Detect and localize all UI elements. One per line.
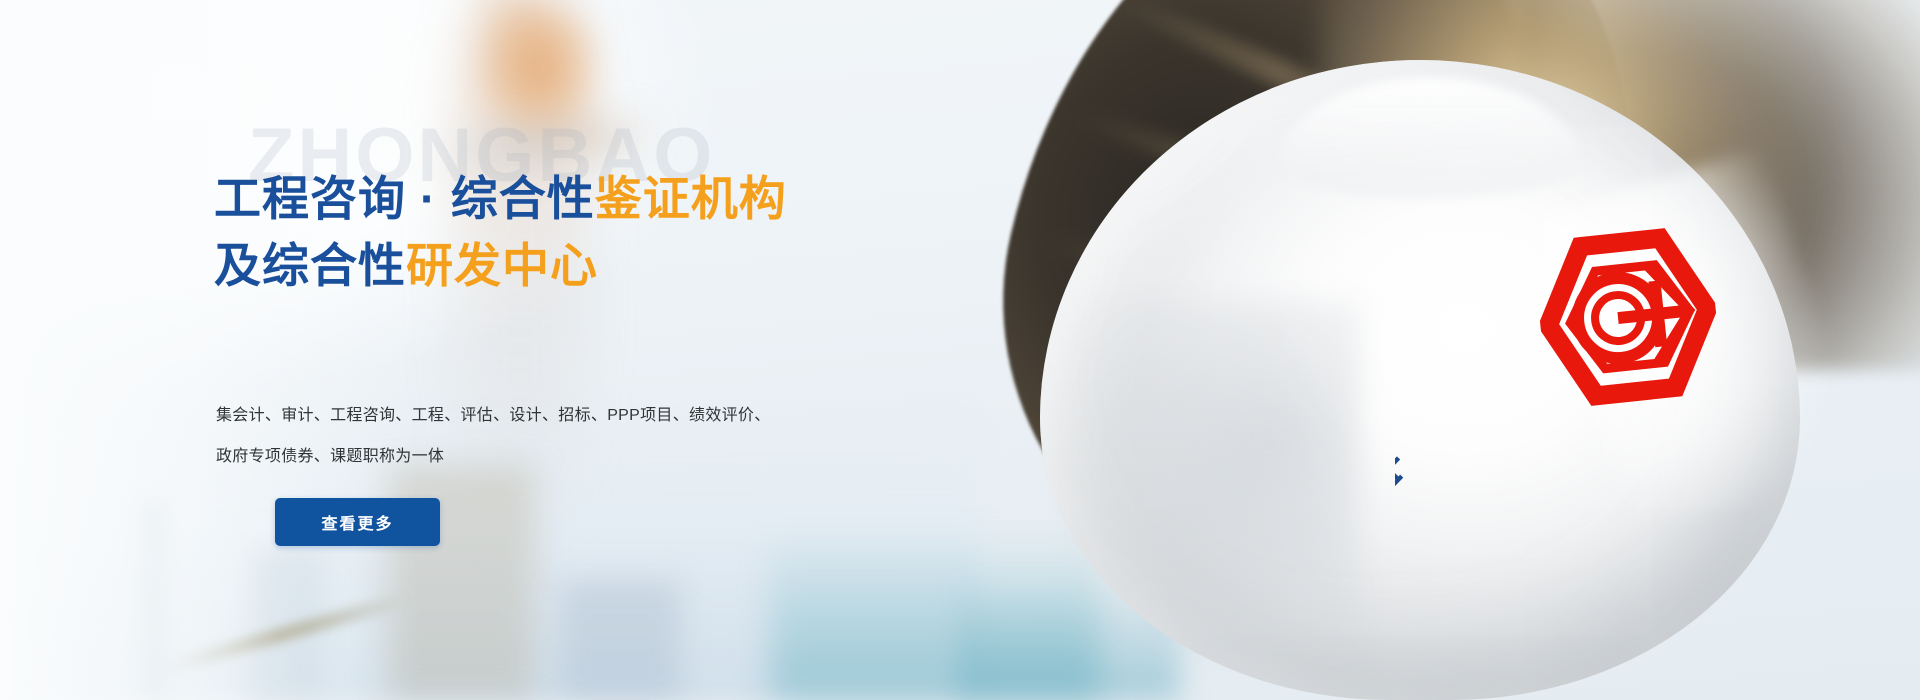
lead-line-1: 集会计、审计、工程咨询、工程、评估、设计、招标、PPP项目、绩效评价、 xyxy=(216,396,856,437)
scaffold-4 xyxy=(560,580,680,700)
headline-line-2-accent: 研发中心 xyxy=(406,239,598,292)
lead-paragraph: 集会计、审计、工程咨询、工程、评估、设计、招标、PPP项目、绩效评价、 政府专项… xyxy=(216,396,856,478)
zhongbao-hexagon-emblem-icon xyxy=(1532,223,1725,410)
left-haze-overlay xyxy=(0,0,420,700)
headline-line-1-primary: 工程咨询 · 综合性 xyxy=(214,172,595,225)
hero-banner: 中宝工程管理 ZHONGBAO 工程咨询 · 综合性鉴证机构 及综合性研发中心 … xyxy=(0,0,1920,700)
page-title: 工程咨询 · 综合性鉴证机构 及综合性研发中心 xyxy=(214,166,1114,299)
lead-line-2: 政府专项债券、课题职称为一体 xyxy=(216,437,856,478)
headline-line-2-primary: 及综合性 xyxy=(214,239,406,292)
headline-line-1: 工程咨询 · 综合性鉴证机构 xyxy=(214,166,1114,233)
headline-line-2: 及综合性研发中心 xyxy=(214,233,1114,300)
headline-line-1-accent: 鉴证机构 xyxy=(595,172,787,225)
view-more-button[interactable]: 查看更多 xyxy=(275,498,440,546)
helmet-shadow xyxy=(1060,300,1360,660)
helmet-brand-text: 中宝工程管理 xyxy=(1395,187,1417,490)
svg-text:中宝工程管理: 中宝工程管理 xyxy=(1395,187,1417,490)
